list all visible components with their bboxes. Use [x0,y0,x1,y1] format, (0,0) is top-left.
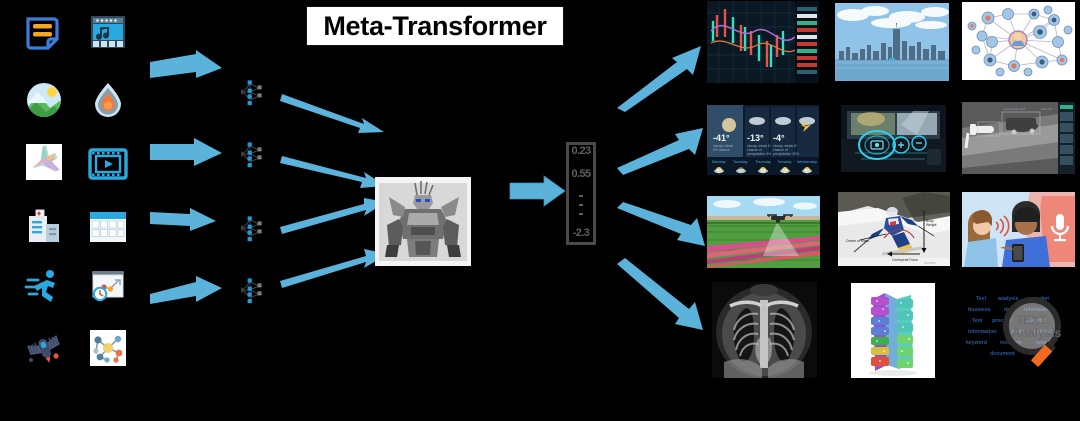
tokenizer-node-4 [239,275,269,305]
svg-text:Text: Text [972,318,983,324]
svg-text:Wednesday: Wednesday [797,160,817,164]
audio-music-icon [86,10,130,54]
graph-icon [86,326,130,370]
svg-text:Camera 01 S06: Camera 01 S06 [1004,107,1025,111]
svg-text:Text: Text [976,296,987,302]
svg-text:Zone 02: Zone 02 [1041,107,1052,111]
point-cloud-icon [22,326,66,370]
page-title-text: Meta-Transformer [323,11,546,42]
time-series-icon [86,264,130,308]
token-ellipsis-dot [579,195,583,197]
infrared-icon [86,78,130,122]
svg-text:document: document [990,351,1015,357]
token-value-last: -2.3 [573,228,590,240]
thumb-voice-assistant [962,192,1075,267]
table-grid-icon [86,204,130,248]
svg-text:-4°: -4° [773,133,785,143]
embedding-arrow [508,172,568,212]
svg-text:Tuesday: Tuesday [733,160,748,164]
page-title: Meta-Transformer [306,6,564,46]
token-ellipsis-dot [579,204,583,206]
svg-text:business: business [968,307,991,313]
output-arrow-2 [615,120,707,176]
token-embedding-vector: 0.23 0.55 -2.3 [566,142,596,245]
thumb-surveillance: Camera 01 S06Zone 02 [962,102,1075,174]
token-ellipsis-dot [579,213,583,215]
svg-text:Thursday: Thursday [755,160,771,164]
converge-arrow-3 [280,196,390,242]
svg-text:information: information [968,329,997,335]
thumb-stock-chart [707,1,819,83]
input-arrow-2 [148,136,226,170]
svg-text:keyword: keyword [966,340,987,346]
svg-text:Weight: Weight [926,223,937,227]
magnifier-text-line2: Analysis [1012,326,1062,340]
svg-text:-13°: -13° [747,133,764,143]
svg-text:-41°: -41° [713,133,730,143]
tokenizer-node-1 [239,77,269,107]
token-value-1: 0.55 [571,169,590,181]
hyperspectral-icon [22,140,66,184]
svg-text:precipitation 20%: precipitation 20% [773,152,799,156]
svg-text:0% chance: 0% chance [713,148,730,152]
thumb-chest-xray [712,282,817,378]
meta-transformer-figure: Meta-Transformer [0,0,1080,421]
tokenizer-node-3 [239,213,269,243]
ski-label-centripetal-force: Centripetal Force [892,258,918,262]
thumb-weather-forecast: -41°-13°-4° cloudy, winds0% chance cloud… [707,105,819,175]
thumb-ski-physics: Center of Mass Body Weight Centripetal F… [838,192,950,266]
shared-encoder-backbone [375,177,471,266]
ski-label-center-of-mass: Center of Mass [846,239,869,243]
svg-text:Monday: Monday [712,160,726,164]
svg-text:precipitation 0%: precipitation 0% [747,152,771,156]
imu-motion-icon [22,264,66,308]
text-note-icon [22,12,66,56]
thumb-agri-drone [707,196,820,268]
token-ellipsis [579,193,583,217]
converge-arrow-1 [280,88,390,138]
image-photo-icon [22,78,66,122]
svg-text:Tuesday: Tuesday [777,160,792,164]
input-arrow-3 [148,205,220,235]
tabular-icon [22,204,66,248]
thumb-point-cloud-3d [851,283,935,378]
svg-text:PHYSICS: PHYSICS [924,261,936,265]
thumb-social-graph [962,2,1075,80]
input-arrow-4 [148,272,226,310]
thumb-autonomous-car [841,105,946,172]
video-play-icon [86,142,130,186]
svg-text:analysis: analysis [998,296,1019,302]
output-arrow-3 [615,200,707,258]
input-arrow-1 [148,46,226,86]
thumb-city-skyline [835,3,949,81]
magnifier-text-line1: TEXT [1016,313,1047,327]
output-arrow-1 [615,38,707,112]
output-arrow-4 [615,258,707,346]
thumb-text-analysis: Textanalysismarket businessdatainformati… [960,286,1075,378]
converge-arrow-2 [280,152,390,194]
token-value-0: 0.23 [571,146,590,158]
tokenizer-node-2 [239,139,269,169]
